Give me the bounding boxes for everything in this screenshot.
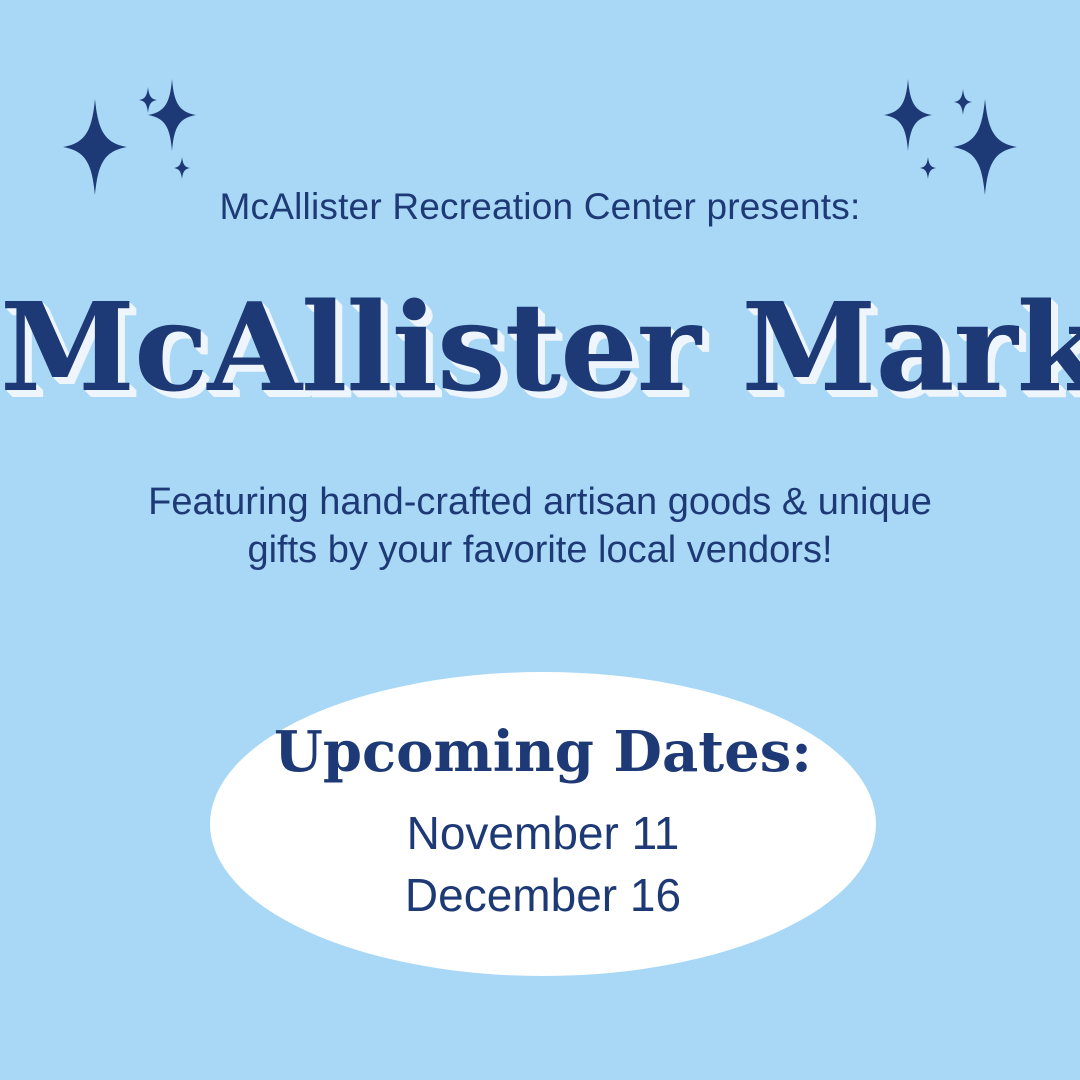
event-description-line-2: gifts by your favorite local vendors! (90, 526, 990, 574)
upcoming-dates-badge: Upcoming Dates: November 11 December 16 (210, 672, 876, 976)
page-title: McAllister Market (0, 286, 1080, 408)
four-point-star-medium-icon (148, 79, 196, 151)
upcoming-date-2: December 16 (405, 864, 681, 926)
presenter-line: McAllister Recreation Center presents: (0, 186, 1080, 228)
four-point-star-small-icon (954, 89, 972, 115)
four-point-star-small-icon (139, 87, 157, 113)
event-description-line-1: Featuring hand-crafted artisan goods & u… (90, 478, 990, 526)
event-flyer: McAllister Recreation Center presents: M… (0, 0, 1080, 1080)
four-point-star-tiny-icon (920, 157, 936, 179)
four-point-star-large-icon (953, 99, 1017, 195)
upcoming-dates-heading: Upcoming Dates: (274, 724, 812, 780)
event-description: Featuring hand-crafted artisan goods & u… (90, 478, 990, 574)
four-point-star-large-icon (63, 99, 127, 195)
page-title-text: McAllister Market (0, 286, 1080, 408)
four-point-star-medium-icon (884, 79, 932, 151)
upcoming-date-1: November 11 (407, 802, 680, 864)
four-point-star-tiny-icon (174, 157, 190, 179)
